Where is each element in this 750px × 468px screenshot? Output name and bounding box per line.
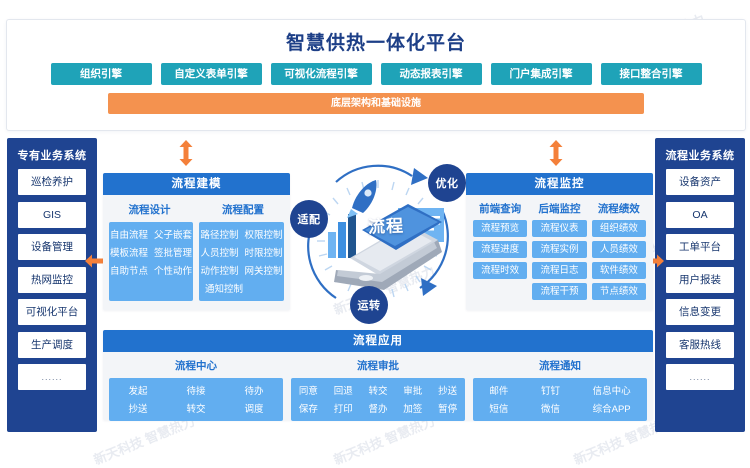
modeling-panel-title: 流程建模: [103, 173, 290, 195]
modeling-cell[interactable]: 自助节点: [110, 263, 148, 277]
cycle-label-adapt: 适配: [290, 200, 328, 238]
modeling-cell[interactable]: 父子嵌套: [154, 227, 192, 241]
monitoring-chip[interactable]: 人员绩效: [592, 241, 646, 258]
applications-cell[interactable]: 信息中心: [593, 383, 631, 397]
monitoring-heading-performance: 流程绩效: [592, 201, 646, 216]
cycle-label-optimize: 优化: [428, 164, 466, 202]
monitoring-column-performance: 组织绩效 人员绩效 软件绩效 节点绩效: [592, 220, 646, 300]
applications-heading-center: 流程中心: [109, 358, 283, 373]
modeling-cell[interactable]: 通知控制: [205, 281, 243, 295]
monitoring-panel-title: 流程监控: [466, 173, 653, 195]
applications-group-center: 发起 待接 待办 抄送 转交 调度: [109, 378, 283, 421]
arrow-modeling-vertical-icon: [178, 140, 194, 166]
applications-row: 同意 回退 转交 审批 抄送: [291, 383, 465, 397]
monitoring-chip[interactable]: 流程进度: [473, 241, 527, 258]
left-sidebar-items: 巡检养护 GIS 设备管理 热网监控 可视化平台 生产调度 ......: [18, 169, 86, 390]
right-sidebar-title: 流程业务系统: [655, 147, 745, 163]
applications-cell[interactable]: 发起: [128, 383, 147, 397]
modeling-cell[interactable]: 路径控制: [200, 227, 238, 241]
left-sidebar-title: 专有业务系统: [7, 147, 97, 163]
engine-chip[interactable]: 可视化流程引擎: [271, 63, 372, 85]
sidebar-item-more[interactable]: ......: [18, 364, 86, 390]
modeling-group-config: 路径控制 权限控制 人员控制 时限控制 动作控制 网关控制 通知控制: [199, 222, 284, 301]
sidebar-item-equipment[interactable]: 设备管理: [18, 234, 86, 260]
applications-cell[interactable]: 抄送: [128, 401, 147, 415]
engine-row: 组织引擎 自定义表单引擎 可视化流程引擎 动态报表引擎 门户集成引擎 接口整合引…: [7, 63, 745, 85]
applications-cell[interactable]: 督办: [368, 401, 387, 415]
sidebar-item-workorder[interactable]: 工单平台: [666, 234, 734, 260]
applications-cell[interactable]: 回退: [334, 383, 353, 397]
sidebar-item-userinstall[interactable]: 用户报装: [666, 267, 734, 293]
infrastructure-bar: 底层架构和基础设施: [108, 93, 644, 114]
modeling-cell[interactable]: 个性动作: [154, 263, 192, 277]
cycle-center-label: 流程: [368, 211, 405, 237]
modeling-row: 自由流程 父子嵌套: [110, 227, 192, 241]
applications-cell[interactable]: 保存: [299, 401, 318, 415]
modeling-cell[interactable]: 权限控制: [245, 227, 283, 241]
monitoring-heading-frontend: 前端查询: [473, 201, 527, 216]
modeling-row: 动作控制 网关控制: [200, 263, 282, 277]
modeling-heading-config: 流程配置: [196, 202, 290, 217]
modeling-row: 人员控制 时限控制: [200, 245, 282, 259]
sidebar-item-production[interactable]: 生产调度: [18, 332, 86, 358]
right-sidebar: 流程业务系统 设备资产 OA 工单平台 用户报装 信息变更 客服热线 .....…: [655, 138, 745, 432]
sidebar-item-heatnet[interactable]: 热网监控: [18, 267, 86, 293]
sidebar-item-infochange[interactable]: 信息变更: [666, 299, 734, 325]
applications-heading-approval: 流程审批: [291, 358, 465, 373]
applications-cell[interactable]: 转交: [368, 383, 387, 397]
engine-chip[interactable]: 接口整合引擎: [601, 63, 702, 85]
applications-cell[interactable]: 审批: [403, 383, 422, 397]
applications-cell[interactable]: 微信: [541, 401, 560, 415]
applications-row: 短信 微信 综合APP: [473, 401, 647, 415]
applications-group-approval: 同意 回退 转交 审批 抄送 保存 打印 督办 加签 暂停: [291, 378, 465, 421]
cycle-label-operate: 运转: [350, 286, 388, 324]
applications-cell[interactable]: 暂停: [438, 401, 457, 415]
applications-cell[interactable]: 打印: [334, 401, 353, 415]
engine-chip[interactable]: 动态报表引擎: [381, 63, 482, 85]
monitoring-columns: 流程预览 流程进度 流程时效 流程仪表 流程实例 流程日志 流程干预 组织绩效 …: [466, 220, 653, 300]
applications-cell[interactable]: 钉钉: [541, 383, 560, 397]
monitoring-column-headings: 前端查询 后端监控 流程绩效: [466, 201, 653, 216]
modeling-row: 路径控制 权限控制: [200, 227, 282, 241]
modeling-row: 模板流程 签批管理: [110, 245, 192, 259]
applications-row: 邮件 钉钉 信息中心: [473, 383, 647, 397]
monitoring-chip[interactable]: 流程时效: [473, 262, 527, 279]
modeling-cell[interactable]: 模板流程: [110, 245, 148, 259]
applications-cell[interactable]: 同意: [299, 383, 318, 397]
monitoring-column-backend: 流程仪表 流程实例 流程日志 流程干预: [532, 220, 586, 300]
applications-row: 抄送 转交 调度: [109, 401, 283, 415]
applications-cell[interactable]: 抄送: [438, 383, 457, 397]
bar-chart-icon: [328, 214, 356, 258]
applications-cell[interactable]: 加签: [403, 401, 422, 415]
monitoring-heading-backend: 后端监控: [532, 201, 586, 216]
modeling-heading-design: 流程设计: [103, 202, 196, 217]
modeling-row: 通知控制: [199, 281, 284, 295]
applications-cell[interactable]: 邮件: [489, 383, 508, 397]
process-cycle-illustration: 流程 优化 适配 运转: [292, 160, 464, 322]
sidebar-item-asset[interactable]: 设备资产: [666, 169, 734, 195]
sidebar-item-inspection[interactable]: 巡检养护: [18, 169, 86, 195]
applications-panel: 流程应用 流程中心 流程审批 流程通知 发起 待接 待办 抄送 转交 调度: [103, 330, 653, 420]
platform-card: 智慧供热一体化平台 组织引擎 自定义表单引擎 可视化流程引擎 动态报表引擎 门户…: [6, 19, 746, 131]
engine-chip[interactable]: 门户集成引擎: [491, 63, 592, 85]
page-title: 智慧供热一体化平台: [7, 28, 745, 55]
applications-row: 保存 打印 督办 加签 暂停: [291, 401, 465, 415]
modeling-row: 自助节点 个性动作: [110, 263, 192, 277]
monitoring-chip[interactable]: 流程实例: [532, 241, 586, 258]
applications-groups: 发起 待接 待办 抄送 转交 调度 同意 回退 转交 审批 抄送: [103, 378, 653, 421]
monitoring-chip[interactable]: 流程预览: [473, 220, 527, 237]
applications-heading-notify: 流程通知: [473, 358, 647, 373]
sidebar-item-oa[interactable]: OA: [666, 202, 734, 228]
monitoring-column-frontend: 流程预览 流程进度 流程时效: [473, 220, 527, 300]
left-sidebar: 专有业务系统 巡检养护 GIS 设备管理 热网监控 可视化平台 生产调度 ...…: [7, 138, 97, 432]
modeling-cell[interactable]: 动作控制: [200, 263, 238, 277]
modeling-cell[interactable]: 人员控制: [200, 245, 238, 259]
sidebar-item-hotline[interactable]: 客服热线: [666, 332, 734, 358]
modeling-panel: 流程建模 流程设计 流程配置 自由流程 父子嵌套 模板流程 签批管理 自助节点 …: [103, 173, 290, 310]
applications-headings: 流程中心 流程审批 流程通知: [103, 358, 653, 373]
monitoring-panel: 流程监控 前端查询 后端监控 流程绩效 流程预览 流程进度 流程时效 流程仪表 …: [466, 173, 653, 310]
monitoring-chip[interactable]: 流程仪表: [532, 220, 586, 237]
right-sidebar-items: 设备资产 OA 工单平台 用户报装 信息变更 客服热线 ......: [666, 169, 734, 390]
applications-cell[interactable]: 转交: [186, 401, 205, 415]
monitoring-chip[interactable]: 节点绩效: [592, 283, 646, 300]
applications-cell[interactable]: 调度: [244, 401, 263, 415]
modeling-cell[interactable]: 网关控制: [245, 263, 283, 277]
sidebar-item-gis[interactable]: GIS: [18, 202, 86, 228]
modeling-cell[interactable]: 签批管理: [154, 245, 192, 259]
applications-panel-title: 流程应用: [103, 330, 653, 352]
modeling-groups: 自由流程 父子嵌套 模板流程 签批管理 自助节点 个性动作 路径控制 权限控制: [103, 222, 290, 301]
modeling-cell[interactable]: 自由流程: [110, 227, 148, 241]
engine-chip[interactable]: 自定义表单引擎: [161, 63, 262, 85]
sidebar-item-visualization[interactable]: 可视化平台: [18, 299, 86, 325]
monitoring-chip[interactable]: 流程日志: [532, 262, 586, 279]
monitoring-chip[interactable]: 组织绩效: [592, 220, 646, 237]
applications-cell[interactable]: 综合APP: [593, 401, 631, 415]
monitoring-chip[interactable]: 软件绩效: [592, 262, 646, 279]
diagram-canvas: 新天科技 智慧热力 新天科技 智慧热力 新天科技 智慧热力 新天科技 智慧热力 …: [0, 0, 750, 449]
modeling-column-headings: 流程设计 流程配置: [103, 202, 290, 217]
applications-cell[interactable]: 待接: [186, 383, 205, 397]
modeling-group-design: 自由流程 父子嵌套 模板流程 签批管理 自助节点 个性动作: [109, 222, 193, 301]
sidebar-item-more[interactable]: ......: [666, 364, 734, 390]
arrow-monitoring-vertical-icon: [548, 140, 564, 166]
applications-row: 发起 待接 待办: [109, 383, 283, 397]
applications-cell[interactable]: 短信: [489, 401, 508, 415]
applications-cell[interactable]: 待办: [244, 383, 263, 397]
engine-chip[interactable]: 组织引擎: [51, 63, 152, 85]
monitoring-chip[interactable]: 流程干预: [532, 283, 586, 300]
applications-group-notify: 邮件 钉钉 信息中心 短信 微信 综合APP: [473, 378, 647, 421]
modeling-cell[interactable]: 时限控制: [245, 245, 283, 259]
